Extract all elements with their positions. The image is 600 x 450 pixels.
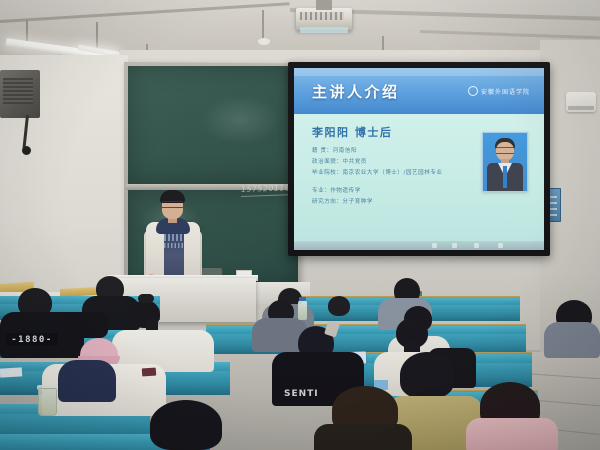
paper-sheet bbox=[0, 367, 22, 377]
light-rod bbox=[26, 20, 28, 42]
hair-bun bbox=[138, 294, 154, 303]
taskbar-icon[interactable] bbox=[498, 243, 503, 248]
backpack bbox=[64, 312, 108, 338]
university-seal-icon bbox=[468, 86, 478, 96]
bottle-cap bbox=[299, 297, 306, 301]
microphone-icon bbox=[22, 146, 31, 155]
slide-header-highlight bbox=[294, 68, 544, 76]
sweater-pattern bbox=[164, 243, 184, 248]
navy-hood bbox=[58, 360, 116, 402]
slide-info-row: 籍 贯：河南信阳 bbox=[312, 146, 357, 154]
slide-logo-text: 安徽外国语学院 bbox=[481, 87, 530, 96]
ac-vent bbox=[568, 106, 594, 110]
slide-body: 李阳阳 博士后 籍 贯：河南信阳 政治面貌：中共党员 毕业院校：南京农业大学（博… bbox=[294, 114, 544, 250]
photo-necktie bbox=[503, 166, 507, 188]
projection-screen[interactable]: 主讲人介绍 安徽外国语学院 李阳阳 博士后 籍 贯：河南信阳 政治面貌：中共党员… bbox=[294, 68, 544, 250]
projector-body-detail bbox=[300, 12, 344, 20]
ceiling-mount bbox=[258, 38, 270, 45]
jacket-back-text: -1880- bbox=[6, 333, 58, 346]
water-bottle bbox=[298, 300, 307, 320]
glass-water-jar bbox=[38, 388, 57, 416]
classroom-photo: 15752011626 主讲人介绍 安徽外国语学院 李阳阳 博士后 籍 贯：河南… bbox=[0, 0, 600, 450]
projector-lens bbox=[300, 27, 348, 33]
slide-logo: 安徽外国语学院 bbox=[468, 86, 530, 96]
student-torso bbox=[544, 322, 600, 358]
taskbar-icon[interactable] bbox=[452, 243, 457, 248]
slide-info-row: 专业：作物遗传学 bbox=[312, 186, 361, 194]
taskbar-icon[interactable] bbox=[474, 243, 479, 248]
speaker-grill bbox=[3, 78, 33, 104]
glasses-icon bbox=[162, 201, 183, 208]
slide-info-row: 研究方向：分子育种学 bbox=[312, 197, 373, 205]
light-rod bbox=[262, 10, 264, 40]
student-head-foreground bbox=[150, 400, 222, 450]
mobile-phone bbox=[142, 368, 157, 377]
slide-speaker-name: 李阳阳 博士后 bbox=[312, 124, 392, 140]
board-glare bbox=[200, 95, 280, 145]
taskbar-icon[interactable] bbox=[432, 243, 437, 248]
hoodie-back-text: SENTI bbox=[284, 388, 330, 400]
glasses-icon bbox=[496, 147, 514, 154]
projector-mount bbox=[316, 0, 332, 10]
speaker-id-photo bbox=[482, 132, 528, 192]
desktop-taskbar[interactable] bbox=[294, 241, 544, 250]
student-pink-coat bbox=[466, 418, 558, 450]
slide-info-row: 毕业院校：南京农业大学（博士）/园艺园林专业 bbox=[312, 168, 443, 176]
slide-title: 主讲人介绍 bbox=[312, 81, 400, 102]
light-rod bbox=[96, 22, 98, 48]
student-head bbox=[328, 296, 350, 316]
student-hair-long bbox=[314, 424, 412, 450]
slide-info-row: 政治面貌：中共党员 bbox=[312, 157, 367, 165]
